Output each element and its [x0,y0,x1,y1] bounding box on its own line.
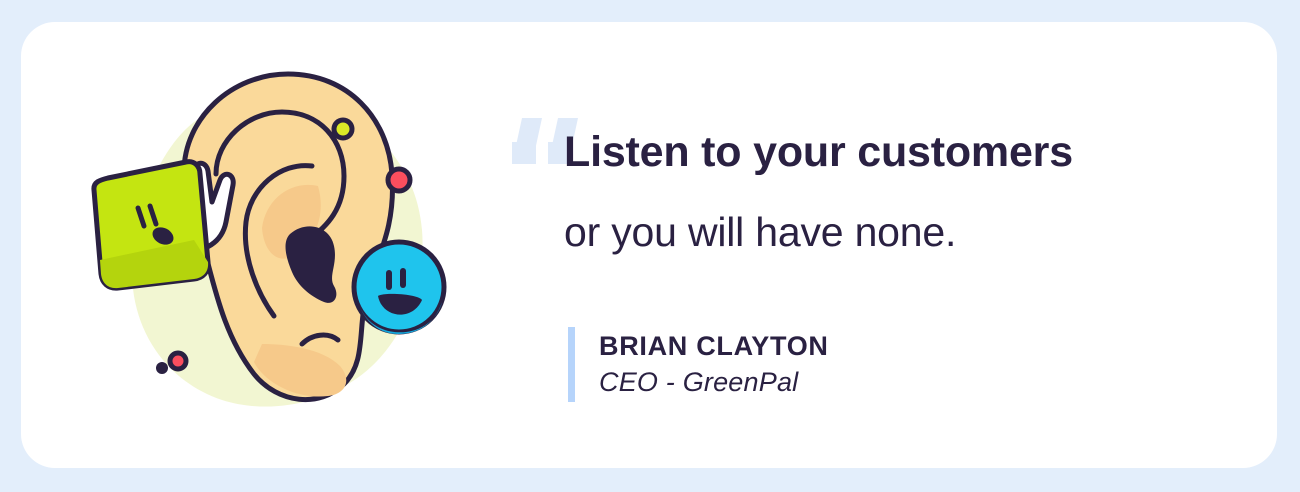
attribution-accent-bar [568,327,575,402]
dot-red-bottom [170,353,186,369]
quote-line-1: Listen to your customers [564,128,1073,176]
author-role: CEO - GreenPal [599,363,829,401]
dot-red-top [388,169,410,191]
dot-navy [156,362,168,374]
attribution: BRIAN CLAYTON CEO - GreenPal [568,327,829,402]
dot-yellow [334,120,352,138]
smiley-circle [354,242,444,334]
green-card [94,162,208,288]
testimonial-card: Listen to your customers or you will hav… [21,22,1277,468]
author-name: BRIAN CLAYTON [599,329,829,363]
listening-ear-illustration [66,44,466,444]
quote-line-2: or you will have none. [564,208,956,256]
attribution-text: BRIAN CLAYTON CEO - GreenPal [575,327,829,402]
